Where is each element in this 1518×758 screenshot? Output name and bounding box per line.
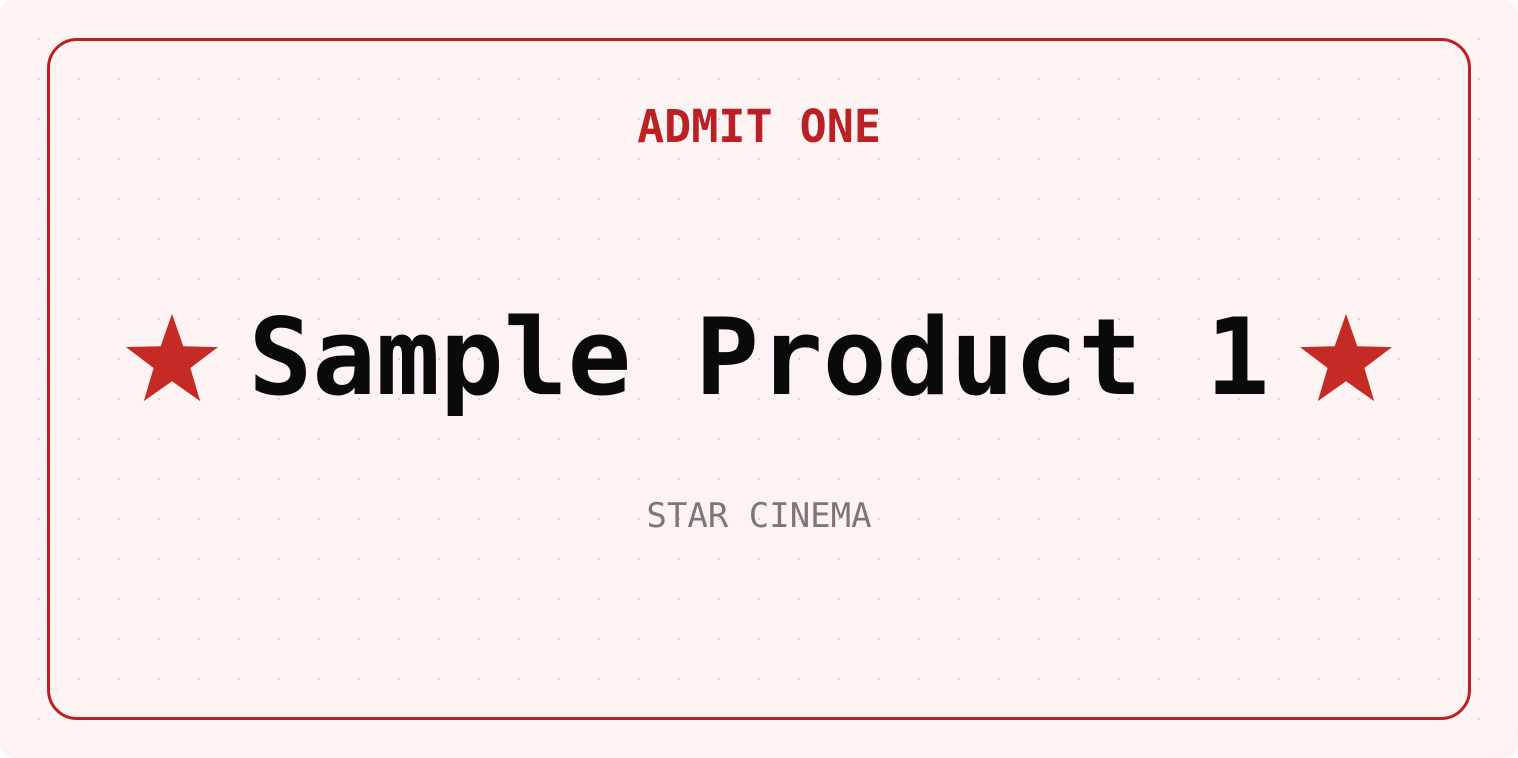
ticket-title-row: Sample Product 1 [50,293,1468,423]
venue-label: STAR CINEMA [50,499,1468,533]
product-title: Sample Product 1 [220,297,1297,419]
ticket-card[interactable]: ADMIT ONE Sample Product 1 STAR CINEMA [47,38,1471,720]
star-icon-left [124,312,220,404]
admit-one-label: ADMIT ONE [50,104,1468,149]
star-icon-right [1298,312,1394,404]
ticket-content: ADMIT ONE Sample Product 1 STAR CINEMA [50,41,1468,717]
ticket-page: ADMIT ONE Sample Product 1 STAR CINEMA [0,0,1518,758]
